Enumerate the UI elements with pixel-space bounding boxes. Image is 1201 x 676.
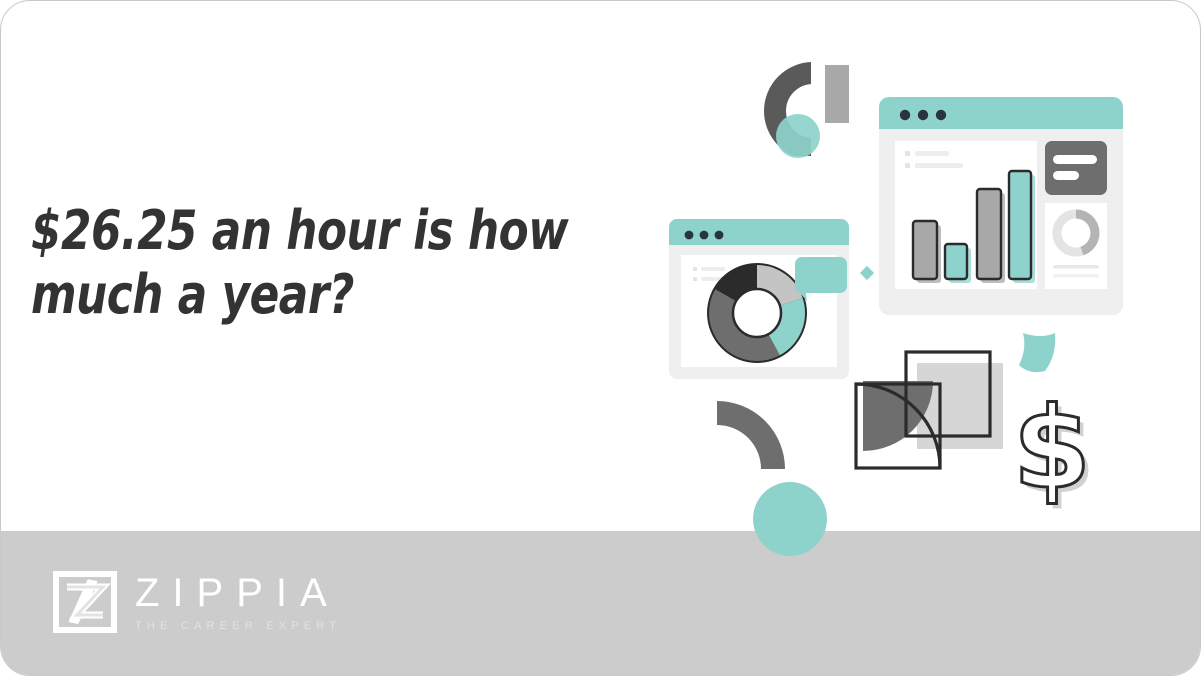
logo-tagline: THE CAREER EXPERT: [135, 620, 341, 632]
infographic-card: $26.25 an hour is how much a year?: [0, 0, 1201, 676]
teal-circle-large: [641, 41, 1161, 571]
logo-wordmark: ZIPPIA THE CAREER EXPERT: [135, 573, 341, 632]
zippia-logo: ZIPPIA THE CAREER EXPERT: [53, 571, 341, 633]
page-title: $26.25 an hour is how much a year?: [31, 199, 571, 326]
logo-name: ZIPPIA: [135, 573, 341, 613]
zippia-z-monogram: [53, 571, 117, 633]
